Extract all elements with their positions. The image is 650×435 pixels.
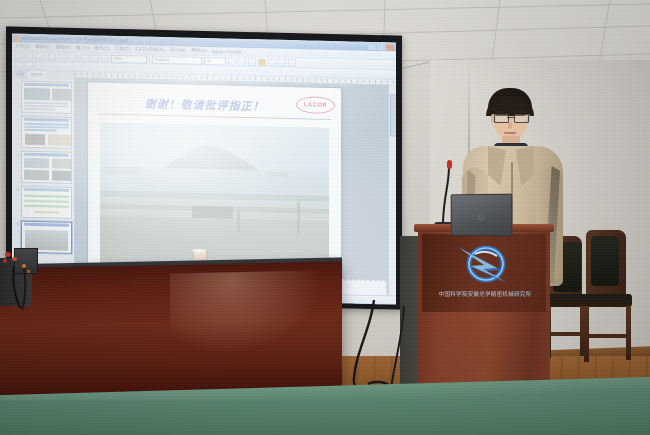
thumb-photo: [48, 134, 72, 146]
thumb-line: [24, 108, 55, 110]
flower-icon: [3, 259, 7, 263]
presenter-mouth: [504, 132, 516, 134]
toolbar-separator: [45, 54, 46, 60]
thumb-title-bar: [24, 118, 69, 122]
podium-organization-text: 中国科学院安徽光学精密机械研究所: [424, 290, 546, 298]
cut-icon[interactable]: [81, 54, 89, 62]
chair-rail: [584, 334, 628, 338]
menu-item-window[interactable]: 窗口(W): [169, 47, 186, 53]
list-item[interactable]: 2: [14, 116, 72, 149]
slide-thumbnail[interactable]: [21, 186, 72, 219]
photo-pole: [297, 203, 300, 235]
italic-icon[interactable]: [238, 57, 246, 65]
glasses-lens: [494, 114, 509, 123]
presenter-nose: [508, 122, 512, 129]
presenter-eyebrow: [515, 111, 526, 113]
font-size-combo[interactable]: 32: [204, 57, 226, 66]
preview-icon[interactable]: [58, 53, 66, 61]
open-icon[interactable]: [25, 52, 33, 60]
thumb-line: [24, 195, 69, 198]
window-controls: [368, 43, 394, 50]
current-slide[interactable]: 谢谢！敬请批评指正！ LACOR: [87, 81, 342, 282]
menu-item-insert[interactable]: 插入(I): [76, 45, 90, 51]
conference-room-photo: Microsoft PowerPoint - [大气光学研究中心.ppt] 文件…: [0, 0, 650, 435]
stage-carpet-lower: [0, 400, 650, 435]
slide-number: 1: [14, 81, 19, 87]
lacor-logo-text: LACOR: [304, 102, 327, 109]
photo-building: [265, 171, 288, 177]
menu-item-tools[interactable]: 工具(T): [115, 46, 130, 52]
toolbar-separator: [78, 55, 79, 61]
slide-thumbnail[interactable]: [21, 81, 72, 114]
list-item[interactable]: 3: [14, 151, 72, 184]
menu-item-slideshow[interactable]: 幻灯片放映(D): [135, 46, 164, 53]
presenter-eyebrow: [495, 111, 506, 113]
thumb-line: [24, 205, 69, 208]
toolbar-separator: [149, 56, 150, 62]
shadow-icon[interactable]: [258, 58, 266, 66]
flower-icon: [5, 252, 11, 257]
photo-structure: [192, 206, 233, 219]
bold-icon[interactable]: [228, 57, 236, 65]
thumb-title-bar: [24, 83, 69, 87]
list-item[interactable]: 4: [14, 186, 72, 219]
slide-number: 2: [14, 116, 19, 122]
thumb-line: [24, 129, 57, 131]
layout-icon[interactable]: [35, 62, 43, 70]
menu-item-help[interactable]: 帮助(H): [191, 48, 207, 54]
align-left-icon[interactable]: [268, 58, 276, 66]
chair-leg: [626, 306, 631, 360]
thumb-photo: [52, 170, 72, 181]
underline-icon[interactable]: [248, 58, 256, 66]
thumb-photo: [52, 158, 72, 169]
laptop-logo-icon: [477, 213, 485, 221]
cup-rim: [192, 249, 206, 252]
paste-icon[interactable]: [101, 54, 109, 62]
thumb-line: [24, 200, 69, 203]
laptop[interactable]: [451, 194, 513, 237]
chair-pad: [591, 236, 619, 286]
chair-seat: [582, 294, 632, 307]
save-icon[interactable]: [35, 53, 43, 61]
menu-item-edit[interactable]: 编辑(E): [35, 44, 50, 50]
copy-icon[interactable]: [91, 54, 99, 62]
design-icon[interactable]: [15, 62, 23, 70]
front-table: [0, 261, 342, 398]
slide-photo[interactable]: [100, 123, 329, 273]
new-icon[interactable]: [15, 52, 23, 60]
thumb-photo: [24, 158, 49, 169]
font-name-combo[interactable]: Palatino: [152, 55, 202, 64]
flower-icon: [12, 257, 17, 261]
microphone-head: [447, 160, 452, 169]
thumb-photo: [24, 88, 50, 101]
print-icon[interactable]: [48, 53, 56, 61]
minimize-button[interactable]: [368, 43, 376, 49]
glasses-icon: [493, 114, 528, 122]
maximize-button[interactable]: [377, 44, 385, 50]
menu-item-adobe-pdf[interactable]: Adobe PDF(B): [212, 49, 242, 55]
close-button[interactable]: [386, 44, 394, 50]
menu-item-file[interactable]: 文件(F): [15, 44, 30, 50]
vertical-scrollbar[interactable]: [388, 84, 396, 304]
glasses-lens: [514, 114, 529, 123]
menu-item-format[interactable]: 格式(O): [94, 45, 110, 51]
slide-title[interactable]: 谢谢！敬请批评指正！: [114, 95, 295, 115]
bullets-icon[interactable]: [288, 58, 296, 66]
photo-pole: [237, 208, 239, 231]
chair-backrest: [586, 230, 626, 296]
thumb-photo: [52, 88, 72, 101]
thumb-title-bar: [24, 223, 69, 227]
slide-number: 5: [14, 221, 19, 227]
thumb-line: [34, 211, 59, 213]
powerpoint-icon: [14, 35, 20, 41]
list-item[interactable]: 1: [14, 81, 72, 114]
slide-divider: [98, 114, 331, 120]
scrollbar-thumb[interactable]: [390, 94, 396, 136]
slide-thumbnail[interactable]: [21, 151, 72, 184]
slide-thumbnail[interactable]: [21, 116, 72, 149]
photo-building: [105, 166, 142, 174]
side-cable-icon: [4, 266, 46, 312]
thumb-title-bar: [24, 188, 69, 192]
align-center-icon[interactable]: [278, 58, 286, 66]
menu-item-view[interactable]: 视图(V): [55, 44, 70, 50]
comet-swoosh-logo-icon: [455, 240, 517, 288]
thumb-photo: [25, 134, 45, 145]
glasses-bridge: [507, 117, 514, 118]
zoom-combo[interactable]: 50%: [111, 54, 147, 63]
thumb-title-bar: [24, 153, 69, 157]
new-slide-icon[interactable]: [25, 62, 33, 70]
lacor-logo: LACOR: [296, 96, 335, 114]
slide-number: 4: [14, 186, 19, 192]
slide-number: 3: [14, 151, 19, 157]
thumb-photo: [24, 170, 49, 181]
spelling-icon[interactable]: [68, 53, 76, 61]
